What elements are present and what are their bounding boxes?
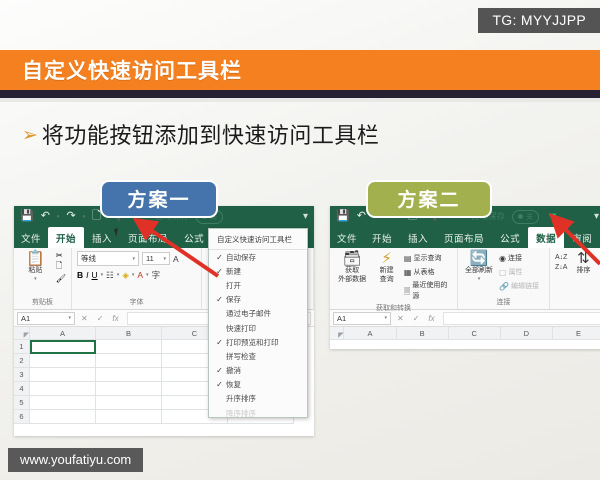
banner-underline-light bbox=[0, 98, 600, 102]
row-header-6[interactable]: 6 bbox=[14, 410, 30, 424]
formula-cancel-icon-left[interactable]: ✕ bbox=[78, 314, 91, 323]
sort-group-label bbox=[555, 306, 599, 309]
refresh-chevron-down-icon[interactable]: ▾ bbox=[478, 276, 481, 282]
check-icon: ✓ bbox=[213, 267, 226, 276]
from-table-icon: ▦ bbox=[404, 267, 412, 279]
undo-chevron-down-icon[interactable]: ▾ bbox=[57, 214, 60, 220]
col-header-a-right[interactable]: A bbox=[344, 327, 396, 340]
get-transform-group-label: 获取和转换 bbox=[335, 302, 452, 315]
qat-menu-item-label: 恢复 bbox=[226, 379, 241, 390]
connections-icon: ◉ bbox=[499, 253, 506, 265]
recent-sources-icon: 🗏 bbox=[404, 286, 410, 298]
qat-menu-item-quick-print[interactable]: 快速打印 bbox=[209, 321, 307, 335]
undo-icon[interactable]: ↶ bbox=[41, 211, 50, 222]
cell-b6[interactable] bbox=[96, 410, 162, 424]
worksheet-grid-right: ◤ A B C D E bbox=[330, 327, 600, 340]
qat-menu-item-save[interactable]: ✓ 保存 bbox=[209, 293, 307, 307]
row-header-4[interactable]: 4 bbox=[14, 382, 30, 396]
font-group-label: 字体 bbox=[77, 296, 196, 309]
banner-underline-dark bbox=[0, 90, 600, 98]
select-all-corner-left[interactable]: ◤ bbox=[14, 327, 30, 340]
undo-icon[interactable]: ↶ bbox=[357, 211, 366, 222]
new-query-label: 新建 查询 bbox=[380, 267, 394, 285]
cut-icon[interactable]: ✂ bbox=[56, 251, 66, 260]
qat-menu-item-label: 新建 bbox=[226, 266, 241, 277]
tab-file-right[interactable]: 文件 bbox=[330, 227, 364, 248]
ribbon-group-font: 等线 ▾ 11 ▾ A B I U ▾ ☷ bbox=[72, 248, 202, 309]
bullet-line: ➢ 将功能按钮添加到快速访问工具栏 bbox=[22, 118, 379, 150]
font-size-value: 11 bbox=[146, 254, 154, 263]
get-external-data-button[interactable]: 🗃 获取 外部数据 bbox=[335, 251, 369, 285]
tg-watermark: TG: MYYJJPP bbox=[478, 8, 600, 33]
external-data-icon: 🗃 bbox=[343, 251, 362, 266]
new-query-icon: ⚡ bbox=[381, 251, 392, 266]
phonetic-guide-icon[interactable]: 字 bbox=[152, 269, 161, 281]
tab-page-layout-right[interactable]: 页面布局 bbox=[436, 227, 492, 248]
cell-a2[interactable] bbox=[30, 354, 96, 368]
recent-sources-button[interactable]: 🗏 最近使用的源 bbox=[404, 281, 452, 302]
col-header-b-right[interactable]: B bbox=[397, 327, 449, 340]
sort-button[interactable]: ⇅ 排序 bbox=[570, 251, 596, 276]
scheme-one-label: 方案一 bbox=[100, 180, 218, 218]
qat-menu-item-new[interactable]: ✓ 新建 bbox=[209, 264, 307, 278]
cell-b5[interactable] bbox=[96, 396, 162, 410]
row-header-2[interactable]: 2 bbox=[14, 354, 30, 368]
qat-menu-item-label: 降序排序 bbox=[226, 408, 256, 418]
tab-review-right[interactable]: 审阅 bbox=[564, 227, 600, 248]
qat-menu-item-label: 快速打印 bbox=[226, 323, 256, 334]
tab-formulas-right[interactable]: 公式 bbox=[492, 227, 528, 248]
borders-icon[interactable]: ☷ bbox=[106, 270, 114, 281]
col-header-b[interactable]: B bbox=[96, 327, 162, 340]
cell-a1[interactable] bbox=[30, 340, 96, 354]
qat-menu-item-redo[interactable]: ✓ 恢复 bbox=[209, 378, 307, 392]
col-header-e-right[interactable]: E bbox=[553, 327, 600, 340]
tab-home-left[interactable]: 开始 bbox=[48, 227, 84, 248]
connections-label: 连接 bbox=[508, 254, 522, 265]
check-icon: ✓ bbox=[213, 338, 226, 347]
autosave-toggle-right[interactable]: 关 bbox=[512, 210, 539, 224]
cell-a6[interactable] bbox=[30, 410, 96, 424]
col-header-c-right[interactable]: C bbox=[449, 327, 501, 340]
qat-menu-item-autosave[interactable]: ✓ 自动保存 bbox=[209, 250, 307, 264]
qat-menu-item-label: 保存 bbox=[226, 294, 241, 305]
redo-chevron-down-icon[interactable]: ▾ bbox=[83, 214, 86, 220]
cell-b3[interactable] bbox=[96, 368, 162, 382]
show-queries-icon: ▤ bbox=[404, 253, 412, 265]
qat-customize-chevron-icon-right[interactable]: ▾ bbox=[594, 211, 599, 222]
page-title: 自定义快速访问工具栏 bbox=[0, 55, 242, 85]
paste-chevron-down-icon[interactable]: ▾ bbox=[34, 276, 37, 282]
font-color-chevron-down-icon[interactable]: ▾ bbox=[146, 272, 149, 278]
name-box-left[interactable]: A1 ▾ bbox=[17, 312, 75, 325]
show-queries-label: 显示查询 bbox=[413, 254, 441, 265]
qat-customize-chevron-icon-left[interactable]: ▾ bbox=[303, 211, 308, 222]
column-header-row-right: ◤ A B C D E bbox=[330, 327, 600, 340]
new-file-icon[interactable]: 🗋 bbox=[92, 211, 101, 222]
ribbon-group-clipboard: 📋 粘贴 ▾ ✂ 🗋 🖌 剪贴板 bbox=[14, 248, 72, 309]
ribbon-group-get-transform: 🗃 获取 外部数据 ⚡ 新建 查询 ▤ 显示查询 ▦ bbox=[330, 248, 458, 309]
cell-a3[interactable] bbox=[30, 368, 96, 382]
check-icon: ✓ bbox=[213, 366, 226, 375]
autosave-toggle-knob bbox=[518, 214, 523, 219]
edit-links-label: 编辑链接 bbox=[511, 282, 539, 293]
col-header-a[interactable]: A bbox=[30, 327, 96, 340]
properties-icon: ▢ bbox=[499, 267, 507, 279]
borders-chevron-down-icon[interactable]: ▾ bbox=[117, 272, 120, 278]
qat-menu-item-email[interactable]: 通过电子邮件 bbox=[209, 307, 307, 321]
redo-icon[interactable]: ↷ bbox=[66, 211, 75, 222]
tab-page-layout-left[interactable]: 页面布局 bbox=[120, 227, 176, 248]
formula-confirm-icon-left[interactable]: ✓ bbox=[94, 314, 107, 323]
qat-menu-item-label: 自动保存 bbox=[226, 252, 256, 263]
cell-b2[interactable] bbox=[96, 354, 162, 368]
tab-insert-right[interactable]: 插入 bbox=[400, 227, 436, 248]
sort-ascending-button[interactable]: A↓Z bbox=[555, 254, 567, 261]
new-query-button[interactable]: ⚡ 新建 查询 bbox=[372, 251, 401, 285]
fill-chevron-down-icon[interactable]: ▾ bbox=[132, 272, 135, 278]
customize-qat-dropdown[interactable]: 自定义快速访问工具栏 ✓ 自动保存 ✓ 新建 打开 ✓ 保存 通过电子邮件 快速… bbox=[208, 228, 308, 418]
connections-group-label: 连接 bbox=[463, 296, 544, 309]
cell-a4[interactable] bbox=[30, 382, 96, 396]
font-size-chevron-down-icon[interactable]: ▾ bbox=[163, 256, 166, 262]
cell-b1[interactable] bbox=[96, 340, 162, 354]
font-name-combobox[interactable]: 等线 ▾ bbox=[77, 251, 139, 266]
qat-menu-item-label: 升序排序 bbox=[226, 393, 256, 404]
paste-icon: 📋 bbox=[26, 251, 45, 266]
increase-font-size-icon[interactable]: A bbox=[173, 254, 179, 264]
scheme-two-label: 方案二 bbox=[366, 180, 492, 218]
font-size-combobox[interactable]: 11 ▾ bbox=[142, 252, 170, 265]
qat-menu-title: 自定义快速访问工具栏 bbox=[209, 231, 307, 250]
refresh-all-button[interactable]: 🔄 全部刷新 ▾ bbox=[463, 251, 495, 282]
paste-label: 粘贴 bbox=[28, 267, 42, 276]
name-box-chevron-down-icon[interactable]: ▾ bbox=[68, 315, 71, 321]
sort-icon: ⇅ bbox=[577, 251, 590, 266]
row-header-5[interactable]: 5 bbox=[14, 396, 30, 410]
sort-descending-button[interactable]: Z↓A bbox=[555, 264, 567, 271]
qat-menu-item-label: 撤消 bbox=[226, 365, 241, 376]
underline-chevron-down-icon[interactable]: ▾ bbox=[101, 272, 104, 278]
autosave-state-right: 关 bbox=[526, 212, 533, 222]
qat-menu-item-undo[interactable]: ✓ 撤消 bbox=[209, 364, 307, 378]
check-icon: ✓ bbox=[213, 380, 226, 389]
qat-menu-item-sort-asc[interactable]: 升序排序 bbox=[209, 392, 307, 406]
cell-a5[interactable] bbox=[30, 396, 96, 410]
refresh-icon: 🔄 bbox=[470, 251, 489, 266]
edit-links-button: 🔗 编辑链接 bbox=[499, 281, 539, 293]
qat-menu-item-label: 打开 bbox=[226, 280, 241, 291]
insert-function-icon-left[interactable]: fx bbox=[109, 314, 121, 323]
tab-file-left[interactable]: 文件 bbox=[14, 227, 48, 248]
format-painter-icon[interactable]: 🖌 bbox=[56, 274, 66, 283]
tab-data-right[interactable]: 数据 bbox=[528, 227, 564, 248]
check-icon: ✓ bbox=[213, 295, 226, 304]
ribbon-group-connections: 🔄 全部刷新 ▾ ◉ 连接 ▢ 属性 bbox=[458, 248, 550, 309]
get-external-data-label: 获取 外部数据 bbox=[338, 267, 366, 285]
save-icon[interactable]: 💾 bbox=[336, 211, 350, 222]
show-queries-button[interactable]: ▤ 显示查询 bbox=[404, 253, 452, 265]
ribbon-group-sort-filter: A↓Z Z↓A ⇅ 排序 bbox=[550, 248, 600, 309]
edit-links-icon: 🔗 bbox=[499, 281, 509, 293]
italic-button[interactable]: I bbox=[86, 270, 88, 280]
qat-menu-item-label: 通过电子邮件 bbox=[226, 308, 271, 319]
qat-menu-item-label: 拼写检查 bbox=[226, 351, 256, 362]
from-table-label: 从表格 bbox=[413, 268, 434, 279]
underline-button[interactable]: U bbox=[92, 270, 98, 280]
col-header-d-right[interactable]: D bbox=[501, 327, 553, 340]
refresh-all-label: 全部刷新 bbox=[465, 267, 493, 276]
properties-label: 属性 bbox=[509, 268, 523, 279]
name-box-chevron-down-icon[interactable]: ▾ bbox=[384, 315, 387, 321]
properties-button: ▢ 属性 bbox=[499, 267, 539, 279]
row-header-3[interactable]: 3 bbox=[14, 368, 30, 382]
from-table-button[interactable]: ▦ 从表格 bbox=[404, 267, 452, 279]
font-color-icon[interactable]: A bbox=[137, 270, 143, 280]
qat-menu-item-print-preview[interactable]: ✓ 打印预览和打印 bbox=[209, 335, 307, 349]
tab-home-right[interactable]: 开始 bbox=[364, 227, 400, 248]
slide-title-banner: 自定义快速访问工具栏 bbox=[0, 50, 600, 90]
formula-input-right[interactable] bbox=[443, 312, 600, 325]
check-icon: ✓ bbox=[213, 253, 226, 262]
ribbon-tabs-right: 文件 开始 插入 页面布局 公式 数据 审阅 bbox=[330, 227, 600, 248]
select-all-corner-right[interactable]: ◤ bbox=[330, 327, 344, 340]
name-box-value-left: A1 bbox=[21, 314, 30, 323]
recent-sources-label: 最近使用的源 bbox=[412, 281, 452, 302]
font-name-value: 等线 bbox=[81, 253, 96, 264]
bullet-arrow-icon: ➢ bbox=[22, 126, 38, 145]
excel-screenshot-right: 💾 ↶ ▾ ↷ ▾ 🗋 🔍 ☞ ▾ 自动保存 关 ▼ ▾ 文件 开始 插入 页面… bbox=[330, 206, 600, 349]
bold-button[interactable]: B bbox=[77, 270, 83, 280]
cell-b4[interactable] bbox=[96, 382, 162, 396]
site-watermark: www.youfatiyu.com bbox=[8, 448, 143, 472]
clipboard-group-label: 剪贴板 bbox=[19, 296, 66, 309]
qat-menu-item-sort-desc[interactable]: 降序排序 bbox=[209, 406, 307, 418]
row-header-1[interactable]: 1 bbox=[14, 340, 30, 354]
paste-button[interactable]: 📋 粘贴 ▾ bbox=[19, 251, 52, 282]
filter-funnel-icon[interactable]: ▼ bbox=[546, 210, 559, 223]
slide-canvas: TG: MYYJJPP 自定义快速访问工具栏 ➢ 将功能按钮添加到快速访问工具栏… bbox=[0, 0, 600, 480]
connections-button[interactable]: ◉ 连接 bbox=[499, 253, 539, 265]
qat-menu-item-spelling[interactable]: 拼写检查 bbox=[209, 349, 307, 363]
bullet-label: 将功能按钮添加到快速访问工具栏 bbox=[42, 118, 380, 150]
ribbon-right: 🗃 获取 外部数据 ⚡ 新建 查询 ▤ 显示查询 ▦ bbox=[330, 248, 600, 310]
qat-menu-item-open[interactable]: 打开 bbox=[209, 278, 307, 292]
fill-color-icon[interactable]: ◈ bbox=[122, 270, 129, 281]
tab-formulas-left[interactable]: 公式 bbox=[176, 227, 212, 248]
font-name-chevron-down-icon[interactable]: ▾ bbox=[132, 256, 135, 262]
qat-menu-item-label: 打印预览和打印 bbox=[226, 337, 279, 348]
save-icon[interactable]: 💾 bbox=[20, 211, 34, 222]
sort-label: 排序 bbox=[576, 267, 590, 276]
copy-icon[interactable]: 🗋 bbox=[56, 260, 66, 274]
